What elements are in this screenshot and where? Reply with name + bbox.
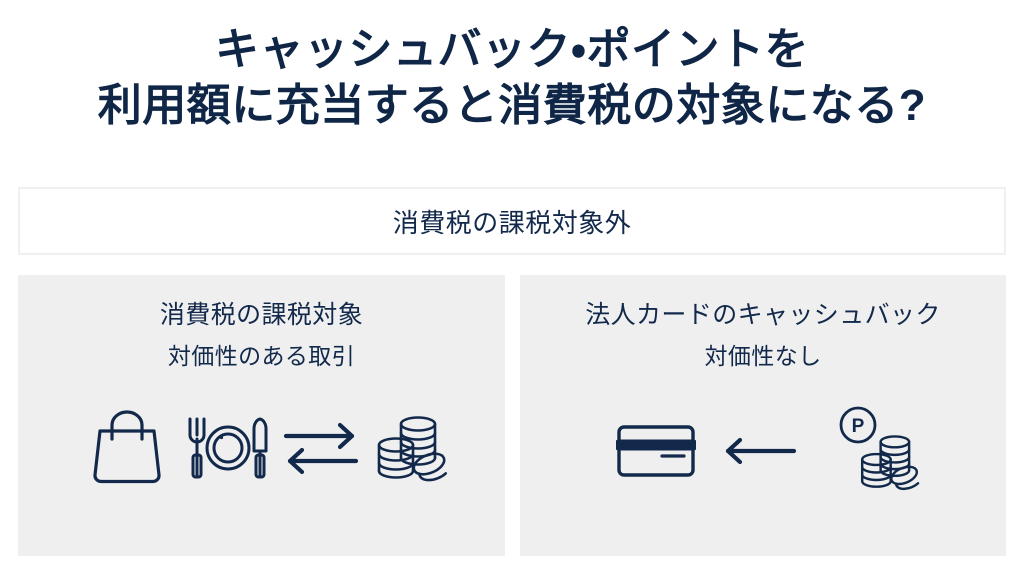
point-cashback-icon-group: P xyxy=(824,405,920,497)
left-arrow-icon xyxy=(722,436,798,466)
title-line-1: キャッシュバック・ポイントを xyxy=(0,22,1024,78)
credit-card-icon xyxy=(616,422,696,480)
card-container: 消費税の課税対象 対価性のある取引 xyxy=(18,275,1006,556)
exchange-arrows-icon xyxy=(282,421,360,475)
banner-label: 消費税の課税対象外 xyxy=(393,203,632,240)
card-taxable: 消費税の課税対象 対価性のある取引 xyxy=(18,275,505,556)
title-line-2: 利用額に充当すると消費税の対象になる? xyxy=(0,78,1024,134)
card-taxable-icon-row xyxy=(18,405,505,491)
card-cashback-icon-row: P xyxy=(520,405,1006,497)
card-cashback-heading: 法人カードのキャッシュバック xyxy=(520,299,1006,333)
card-cashback-subtext: 対価性なし xyxy=(520,341,1006,372)
banner-non-taxable: 消費税の課税対象外 xyxy=(18,187,1006,255)
card-taxable-heading: 消費税の課税対象 xyxy=(18,299,505,333)
slide-root: キャッシュバック・ポイントを 利用額に充当すると消費税の対象になる? 消費税の課… xyxy=(0,0,1024,576)
card-cashback: 法人カードのキャッシュバック 対価性なし xyxy=(520,275,1006,556)
coin-stack-icon xyxy=(858,431,920,498)
page-title: キャッシュバック・ポイントを 利用額に充当すると消費税の対象になる? xyxy=(0,0,1024,135)
shopping-bag-icon xyxy=(84,405,170,491)
coin-stack-icon xyxy=(374,412,448,484)
card-taxable-subtext: 対価性のある取引 xyxy=(18,341,505,372)
dining-plate-icon xyxy=(184,415,268,481)
